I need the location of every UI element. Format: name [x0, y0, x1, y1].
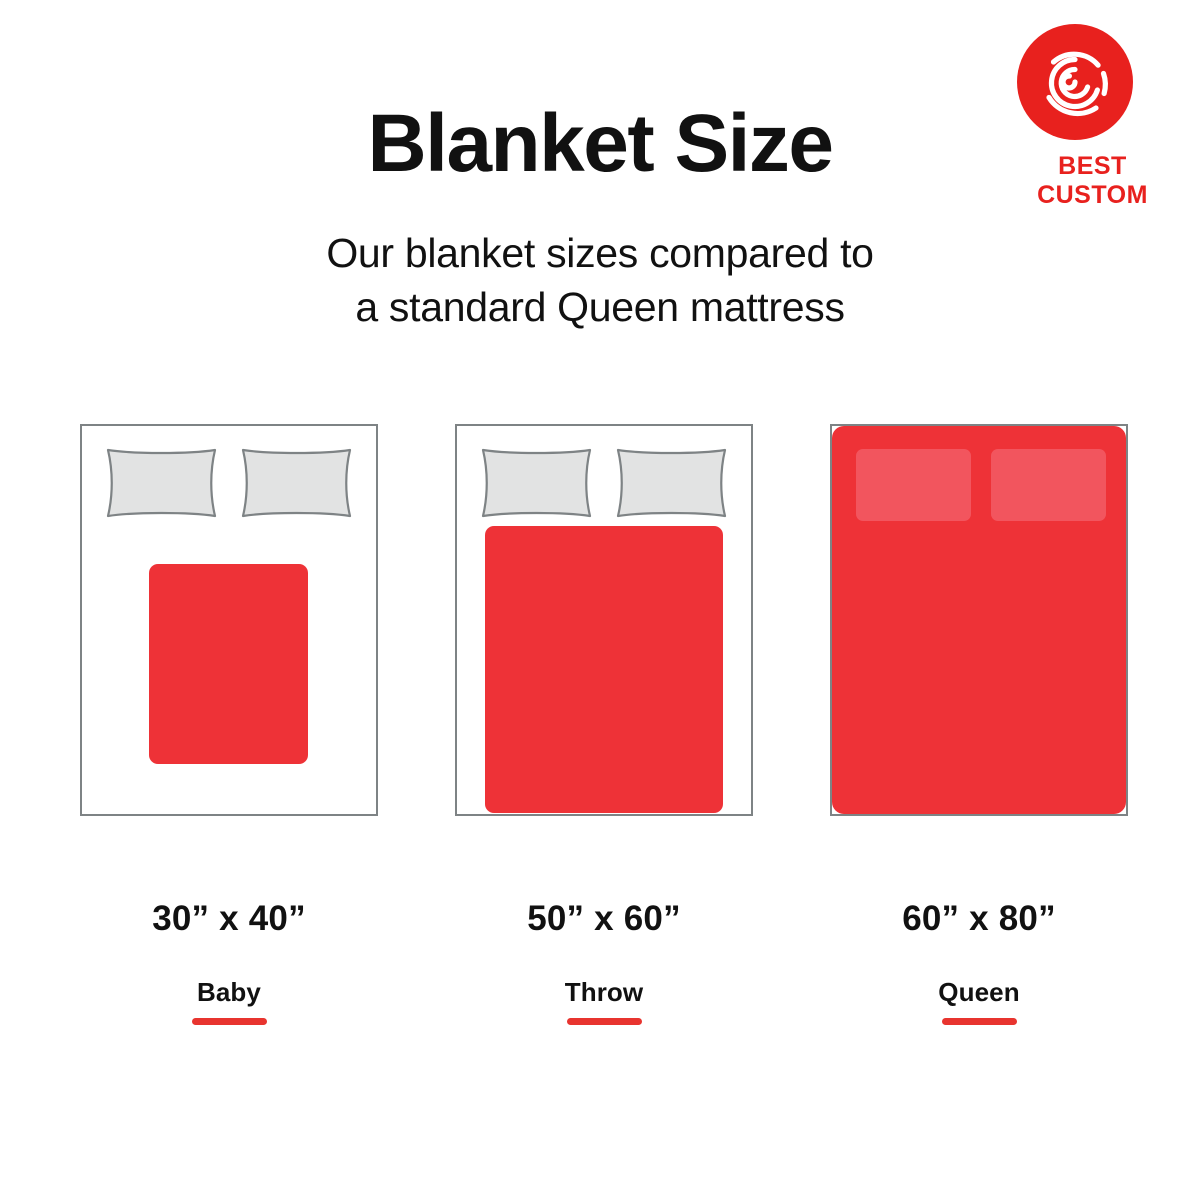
blanket-queen — [832, 426, 1126, 814]
accent-underline — [567, 1018, 642, 1025]
caption-group-queen: 60” x 80” Queen — [830, 900, 1128, 1025]
pillow-right — [991, 449, 1106, 521]
pillow-left — [104, 447, 219, 519]
dimension-label: 30” x 40” — [80, 900, 378, 939]
page-subtitle: Our blanket sizes compared to a standard… — [0, 226, 1200, 334]
pillow-left — [856, 449, 971, 521]
bed-diagrams-row — [0, 424, 1200, 816]
pillow-right — [239, 447, 354, 519]
size-name-label: Queen — [830, 978, 1128, 1007]
size-name-label: Baby — [80, 978, 378, 1007]
bed-diagram-queen — [830, 424, 1128, 816]
bed-diagram-baby — [80, 424, 378, 816]
caption-group-throw: 50” x 60” Throw — [455, 900, 753, 1025]
accent-underline — [192, 1018, 267, 1025]
pillow-right — [614, 447, 729, 519]
dimension-label: 50” x 60” — [455, 900, 753, 939]
bed-diagram-throw — [455, 424, 753, 816]
dimension-label: 60” x 80” — [830, 900, 1128, 939]
blanket-baby — [149, 564, 308, 764]
accent-underline — [942, 1018, 1017, 1025]
page-subtitle-line-2: a standard Queen mattress — [0, 280, 1200, 334]
caption-group-baby: 30” x 40” Baby — [80, 900, 378, 1025]
pillow-left — [479, 447, 594, 519]
page-subtitle-line-1: Our blanket sizes compared to — [0, 226, 1200, 280]
size-name-label: Throw — [455, 978, 753, 1007]
captions-row: 30” x 40” Baby 50” x 60” Throw 60” x 80”… — [0, 900, 1200, 1040]
blanket-throw — [485, 526, 723, 813]
page-title: Blanket Size — [0, 103, 1200, 185]
